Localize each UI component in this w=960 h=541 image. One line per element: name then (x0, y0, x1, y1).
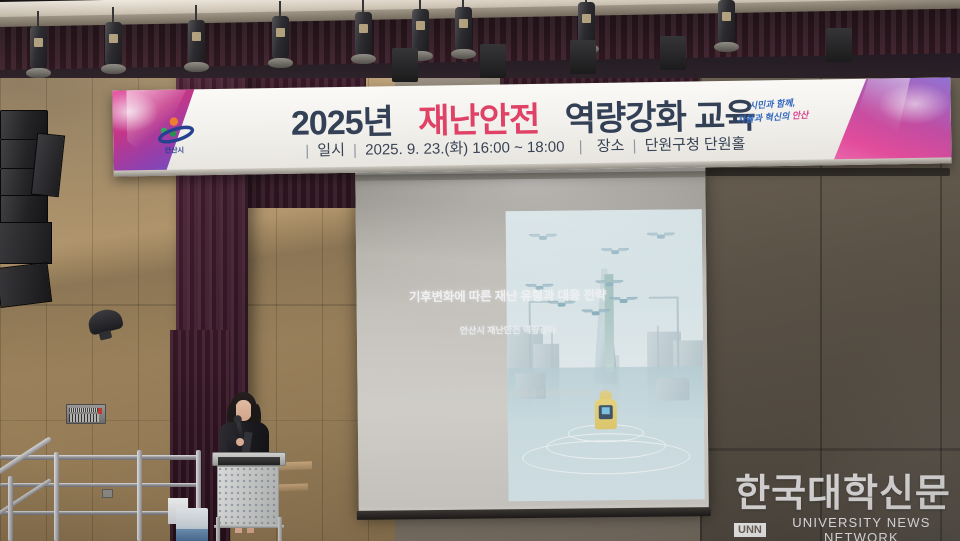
ceiling-speaker-box (480, 44, 506, 78)
slide-title: 기후변화에 따른 재난 유형과 대응 전략 (372, 284, 642, 306)
slogan-line-2c: 안산 (791, 110, 808, 121)
stage-light (105, 22, 122, 66)
speaker-module (0, 195, 48, 225)
subwoofer-module (0, 222, 52, 264)
panel-faders[interactable] (69, 414, 99, 422)
stage-light (412, 9, 429, 53)
lamp-bulb (109, 34, 118, 43)
handrail-mid (0, 483, 200, 487)
lamp-bulb (459, 19, 468, 28)
rail-post (54, 452, 59, 541)
projection-screen: 기후변화에 따른 재난 유형과 대응 전략 안산시 재난안전 역량강화 안산대학… (355, 165, 709, 514)
drone-icon (585, 309, 607, 317)
podium-cross-rail (214, 525, 284, 528)
slide-illustration (506, 209, 705, 501)
meta-place-label: 장소 (597, 138, 625, 155)
podium-desk-inset (218, 457, 280, 465)
drone-icon (604, 248, 626, 256)
ceiling-speaker-box (826, 28, 852, 62)
stage-light (355, 12, 372, 56)
event-banner: 안산시 2025년 재난안전 역량강화 교육 | 일시 | 2025. 9. 2… (112, 77, 951, 176)
stage-light (272, 16, 289, 60)
slogan-line-2a: 자율과 (737, 113, 762, 125)
lamp-bulb (192, 32, 201, 41)
lamp-bulb (34, 38, 43, 47)
city-slogan: 시민과 함께, 자율과 혁신의 안산 (712, 94, 835, 144)
stage-light (188, 20, 205, 64)
worker-device (602, 407, 610, 414)
panel-meter-strip (69, 408, 99, 412)
ansan-logo-text: 안산시 (165, 145, 184, 154)
ceiling-speaker-box (392, 48, 418, 82)
stage-light (455, 7, 472, 51)
ceiling-speaker-box (570, 40, 596, 74)
stage-light (30, 26, 47, 70)
meta-separator-4: | (632, 137, 636, 154)
podium-leg (278, 517, 282, 541)
blue-container (176, 508, 208, 541)
lamp-bulb (582, 14, 591, 23)
meta-separator-1: | (305, 143, 309, 160)
rail-post (8, 476, 13, 541)
lamp-bulb (416, 21, 425, 30)
subwoofer-module (0, 262, 52, 308)
ceiling-speaker-box (660, 36, 686, 70)
presenter-hand (236, 438, 244, 446)
ceiling-track-bar (700, 168, 950, 176)
banner-title-year: 2025년 (291, 103, 394, 143)
podium (212, 452, 286, 541)
podium-leg (216, 517, 220, 541)
lamp-bulb (276, 28, 285, 37)
drone-icon (532, 234, 554, 242)
meta-datetime-label: 일시 (317, 142, 345, 159)
lamp-bulb (359, 24, 368, 33)
handrail-top (0, 455, 200, 460)
stage-light (718, 0, 735, 44)
streetlamp-arm (649, 296, 679, 298)
banner-title-highlight: 재난안전 (418, 101, 540, 141)
rail-post (137, 450, 142, 541)
meta-separator-2: | (353, 142, 357, 159)
meta-datetime-value: 2025. 9. 23.(화) 16:00 ~ 18:00 (365, 138, 565, 158)
meta-separator-3: | (579, 138, 583, 155)
drone-icon (650, 233, 672, 241)
submerged-car (655, 378, 689, 402)
podium-top-surface (212, 452, 286, 466)
lamp-bulb (722, 12, 731, 21)
panel-power-indicator (98, 408, 102, 414)
wall-control-panel[interactable] (66, 404, 106, 424)
line-array-speaker (0, 110, 52, 310)
slogan-line-2b: 혁신의 (764, 111, 789, 123)
auditorium-photo: 기후변화에 따른 재난 유형과 대응 전략 안산시 재난안전 역량강화 안산대학… (0, 0, 960, 541)
podium-front-panel (217, 466, 279, 528)
screen-surface: 기후변화에 따른 재난 유형과 대응 전략 안산시 재난안전 역량강화 안산대학… (355, 171, 708, 508)
wall-outlet (102, 489, 113, 498)
ansan-city-logo: 안산시 (149, 111, 200, 158)
